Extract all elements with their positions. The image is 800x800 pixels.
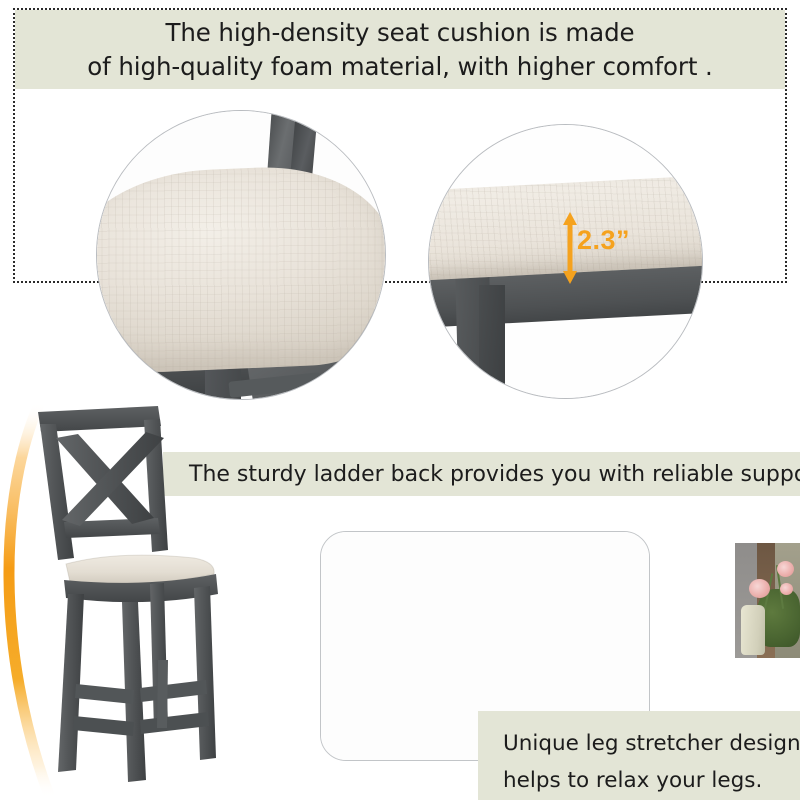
cushion-thickness-label: 2.3” [577, 225, 630, 256]
bottom-headline-band: Unique leg stretcher design helps to rel… [478, 711, 800, 800]
infographic-page: The high-density seat cushion is made of… [0, 0, 800, 800]
counter-height-chair-photo [18, 398, 268, 798]
cushion-thickness-photo: 2.3” [428, 124, 703, 399]
cushion-thickness-photo-content: 2.3” [429, 125, 702, 398]
seat-cushion [96, 162, 386, 376]
top-headline-line-1: The high-density seat cushion is made [165, 16, 634, 50]
dimension-arrow-icon [562, 212, 578, 284]
bottom-headline-line-1: Unique leg stretcher design [503, 725, 800, 762]
bottom-headline-line-2: helps to relax your legs. [503, 762, 800, 799]
chair-leg-front [479, 285, 505, 399]
decor-flowers-photo [735, 543, 800, 658]
seat-cushion-closeup-photo [96, 110, 386, 400]
middle-headline-text: The sturdy ladder back provides you with… [189, 462, 800, 487]
seat-cushion-photo-content [97, 111, 385, 399]
top-headline-line-2: of high-quality foam material, with high… [87, 50, 712, 84]
top-headline-band: The high-density seat cushion is made of… [15, 10, 785, 89]
fabric-weave-texture [96, 162, 386, 376]
